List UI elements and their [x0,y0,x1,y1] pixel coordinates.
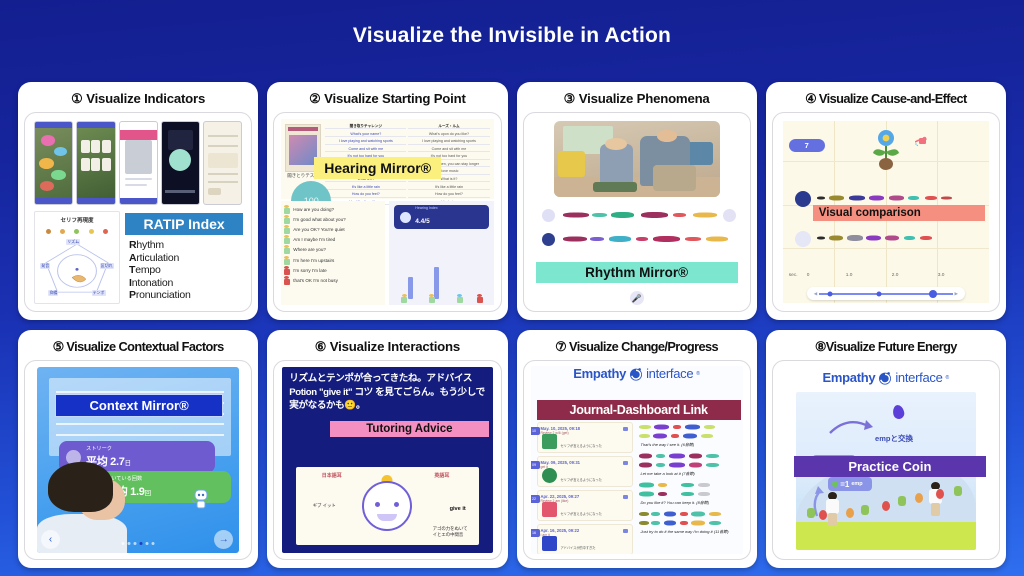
avatar-icon [400,212,411,223]
hearing-index-panel: Hearing Index 4.4/5 [394,205,488,229]
panel-label-english-ear: 英語耳 [434,472,449,479]
card-visualize-interactions[interactable]: ⑥ Visualize Interactions リズムとテンポが合ってきたね。… [267,330,507,568]
entry-tag: 09 [531,461,540,469]
card-title: ⑧Visualize Future Energy [815,339,957,355]
axis-tick: 1.0 [846,273,853,278]
phrase-caption: Let me take a look at it (7音節) [641,471,695,477]
person-figure-right [928,482,944,518]
timeline-chart: 7 [783,121,989,303]
waveform-row [560,210,722,219]
phrase-caption: Just try to do it the same way I'm doing… [641,529,729,535]
card-title: ⑦ Visualize Change/Progress [555,339,718,355]
ratip-item: Pronunciation [129,289,245,302]
card-grid: ① Visualize Indicators [18,82,1006,568]
axis-tick: 3.0 [938,273,945,278]
card-body: Context Mirror® ストリーク 平均 2.7日 聞いている回数 平均… [24,360,252,560]
card-body: セリフ再現度 リズム 発音 [24,112,252,312]
list-item: I'm good what about you? [283,214,383,224]
panel-note: アゴの力をぬいて イとエの中間音 [433,526,468,537]
table-header: ルーズ・ルム [408,123,489,129]
card-visualize-indicators[interactable]: ① Visualize Indicators [18,82,258,320]
waveform-row [560,234,730,243]
pronunciation-panel: 日本語耳 英語耳 ギブ イット give it アゴの力をぬいて イとエの中間音 [296,467,478,545]
ratip-item: Tempo [129,264,245,277]
card-title: ⑥ Visualize Interactions [315,339,460,355]
logo-word-interface: interface [895,370,942,385]
hearing-index-value: 4.4/5 [415,218,429,225]
figure-marker [401,294,408,303]
figure-marker [476,294,483,303]
radar-axis-label: 区切れ [100,263,114,269]
next-arrow-button[interactable]: → [214,530,233,549]
entry-thumbnail [542,434,557,449]
watering-can-icon [915,133,929,144]
slider-right-arrow[interactable]: ▶ [953,291,960,297]
hearing-mirror-badge[interactable]: Hearing Mirror® [314,157,441,179]
radar-axis-label: リズム [66,239,80,245]
card-body: Rhythm Mirror® 🎤 [523,112,751,312]
time-axis: sec. 0 1.0 2.0 3.0 [783,273,989,281]
parent-child-photo [554,121,720,197]
panel-right-text: give it [450,506,466,512]
metric-label: ストリーク [86,445,131,452]
dialogue-list: How are you doing? I'm good what about y… [281,201,385,305]
table-row: I love playing and watching sportsI love… [325,138,489,144]
ratip-index-badge[interactable]: RATIP Index [125,213,243,235]
radar-axis-label: 発音 [40,263,50,269]
list-item: that's OK I'm not busy [283,275,383,285]
chip-sprout-value: =1emp [828,477,872,491]
logo-word-empathy: Empathy [823,370,876,385]
avatar [283,256,290,265]
table-header-row: 聞き取りチャレンジ ルーズ・ルム [325,123,489,129]
phone-screenshots [34,121,242,205]
slide-root: Visualize the Invisible in Action ① Visu… [0,0,1024,576]
phone-screen-4 [161,121,200,205]
ratip-item: Articulation [129,252,245,265]
waveform-group: Let me take a look at it (7音節) [637,451,739,477]
plant-icon [898,496,906,506]
entry-note: アドバイスが的中すぎた [561,546,596,550]
prev-arrow-button[interactable]: ‹ [41,530,60,549]
waveform-row [639,480,735,489]
fruit-icons [41,227,113,236]
list-item[interactable]: 22 Apr. 22, 2025, 09:27 Review 2 am (lik… [537,490,633,521]
plant-icon [807,508,815,518]
card-title: ① Visualize Indicators [71,91,205,107]
entry-tag: 16 [531,529,540,537]
empathy-interface-logo: Empathy interface ® [780,370,992,385]
table-header: 聞き取りチャレンジ [325,123,406,129]
card-body: リズムとテンポが合ってきたね。アドバイスPotion "give it" コツ … [273,360,501,560]
ratip-acronym-list: Rhythm Articulation Tempo Intonation Pro… [129,239,245,302]
exchange-label: empと交換 [875,433,913,444]
card-visualize-phenomena[interactable]: ③ Visualize Phenomena [517,82,757,320]
card-visualize-change-progress[interactable]: ⑦ Visualize Change/Progress Empathy inte… [517,330,757,568]
context-mirror-badge[interactable]: Context Mirror® [55,394,223,417]
entry-thumbnail [542,468,557,483]
list-item: Am I maybe I'm tired [283,235,383,245]
avatar [283,215,290,224]
person-figure-left [825,492,841,528]
plant-icon [915,493,923,503]
lower-panels: How are you doing? I'm good what about y… [281,201,493,305]
dashboard-columns: 10 May. 10, 2025, 09:18 Review 2 w/6 (ge… [537,422,739,550]
phone-screen-2 [76,121,115,205]
waveform-group: Just try to do it the same way I'm doing… [637,509,739,535]
plant-icon [861,505,869,515]
phone-screen-5 [203,121,242,205]
counter-badge: 7 [789,139,825,152]
list-item: Where are you? [283,245,383,255]
waveform-row [639,451,735,460]
waveform-row [817,233,941,242]
plant-icon [954,486,962,496]
entry-thumbnail [542,536,557,551]
card-body: 聞きとりテスト 100 % 聞き取りチャレンジ ルーズ・ルム What's yo… [273,112,501,312]
waveform-row [639,422,735,431]
radar-axis-label: 抑揚 [48,290,58,296]
practice-coin-badge[interactable]: Practice Coin [794,456,986,477]
parent-avatar-icon [795,191,811,207]
entry-note: セリフが言えるようになった [561,478,602,482]
interaction-screen: リズムとテンポが合ってきたね。アドバイスPotion "give it" コツ … [282,367,492,553]
axis-tick: 0 [807,273,810,278]
figure-marker [428,294,435,303]
waveform-row [639,489,735,498]
waveform-row [817,193,955,202]
hearing-index-label: Hearing Index [415,206,437,210]
axis-tick: 2.0 [892,273,899,278]
plant-icon [882,501,890,511]
card-title: ⑤ Visualize Contextual Factors [53,339,224,355]
bar [408,277,413,299]
parent-avatar-icon [542,233,555,246]
bar-chart [395,267,487,303]
logo-word-empathy: Empathy [573,366,626,381]
table-row: What's your name?What's upon do you like… [325,131,489,137]
axis-label: sec. [789,273,798,278]
avatar [283,225,290,234]
waveform-group: That's the way I see it. (6音節) [637,422,739,448]
microphone-icon[interactable]: 🎤 [630,291,644,305]
comment-icon [623,427,628,431]
comment-icon [623,529,628,533]
spiral-icon [629,367,643,381]
card-title: ④ Visualize Cause-and-Effect [805,91,967,107]
avatar [283,235,290,244]
phrase-caption: Do you like it? You can keep it. (8音節) [641,500,710,506]
pentagon-graph: リズム 発音 区切れ 抑揚 テンポ [43,240,111,297]
entry-thumbnail [542,502,557,517]
slider-knob-active [929,290,937,298]
avatar [283,205,290,214]
child-avatar-icon [542,209,555,222]
table-row: Come and sit with meCome and sit with me [325,146,489,152]
entry-tag: 22 [531,495,540,503]
face-diagram [362,481,412,531]
slider-track[interactable] [819,293,952,295]
entry-note: セリフが言えるようになった [561,444,602,448]
tutoring-advice-badge[interactable]: Tutoring Advice [330,421,488,437]
sprout-icon [832,481,838,487]
slider-left-arrow[interactable]: ◀ [812,291,819,297]
metric-unit: 回 [145,490,151,497]
logo-word-interface: interface [646,366,693,381]
list-item: How are you doing? [283,204,383,214]
spiral-icon [878,371,892,385]
phone-screen-3 [119,121,158,205]
list-item: I'm here I'm upstairs [283,255,383,265]
page-title: Visualize the Invisible in Action [0,24,1024,48]
avatar [283,276,290,285]
table-row: How do you feel?How do you feel? [325,191,489,197]
mascot-robot-icon [191,486,211,512]
card-visualize-starting-point[interactable]: ② Visualize Starting Point 聞きとりテスト 100 %… [267,82,507,320]
panel-left-text: ギブ イット [313,503,336,509]
flower-plant-icon [865,129,907,173]
radar-caption: セリフ再現度 [35,216,119,224]
card-visualize-contextual-factors[interactable]: ⑤ Visualize Contextual Factors Context M… [18,330,258,568]
phrase-caption: That's the way I see it. (6音節) [641,442,695,448]
waveform-row [639,431,735,440]
table-row: It's like a little rainIt's like a littl… [325,184,489,190]
phone-screen-1 [34,121,73,205]
curved-arrow-icon [828,417,876,437]
tutor-message: リズムとテンポが合ってきたね。アドバイスPotion "give it" コツ … [289,372,485,413]
card-visualize-future-energy[interactable]: ⑧Visualize Future Energy Empathy interfa… [766,330,1006,568]
registered-mark: ® [946,375,950,381]
card-title: ③ Visualize Phenomena [564,91,710,107]
rhythm-mirror-badge[interactable]: Rhythm Mirror® [536,262,738,283]
empathy-interface-logo: Empathy interface ® [531,366,743,381]
ratip-item: Rhythm [129,239,245,252]
entry-tag: 10 [531,427,540,435]
dashboard-screen: Empathy interface ® Journal-Dashboard Li… [531,366,743,554]
list-item[interactable]: 09 May. 09, 2025, 09:31 get it セリフが言えるよう… [537,456,633,487]
playback-slider[interactable]: ◀ ▶ [807,287,965,300]
slider-knob [827,291,832,296]
radar-axis-label: テンポ [92,290,106,296]
waveform-row [639,518,735,527]
waveform-column: That's the way I see it. (6音節) [637,422,739,550]
energy-drop-icon [892,404,906,420]
figure-marker [456,294,463,303]
list-item: Are you OK? You're quiet [283,224,383,234]
future-energy-screen: Empathy interface ® [780,366,992,554]
carousel-controls: ‹ → [37,531,239,549]
list-item[interactable]: 16 Apr. 16, 2025, 09:22 I am it アドバイスが的中… [537,524,633,554]
card-visualize-cause-and-effect[interactable]: ④ Visualize Cause-and-Effect 7 [766,82,1006,320]
mute-icon[interactable] [723,209,736,222]
journal-entry-list: 10 May. 10, 2025, 09:18 Review 2 w/6 (ge… [537,422,633,550]
ratip-item: Intonation [129,277,245,290]
child-avatar-icon [795,231,811,247]
card-body: Empathy interface ® [772,360,1000,560]
list-item: I'm sorry I'm late [283,265,383,275]
entry-note: セリフが言えるようになった [561,512,602,516]
panel-label-japanese-ear: 日本語耳 [322,472,342,479]
radar-chart: セリフ再現度 リズム 発音 [34,211,120,304]
slider-knob [877,291,882,296]
waveform-group: Do you like it? You can keep it. (8音節) [637,480,739,506]
registered-mark: ® [696,371,700,377]
list-item[interactable]: 10 May. 10, 2025, 09:18 Review 2 w/6 (ge… [537,422,633,453]
avatar [283,266,290,275]
carousel-dots[interactable] [122,542,155,545]
comment-icon [623,495,628,499]
avatar [283,245,290,254]
card-title: ② Visualize Starting Point [309,91,466,107]
waveform-row [639,509,735,518]
waveform-row [639,460,735,469]
comment-icon [623,461,628,465]
card-body: Empathy interface ® Journal-Dashboard Li… [523,360,751,560]
hearing-index-chart: Hearing Index 4.4/5 [389,201,493,305]
card-body: 7 [772,112,1000,312]
visual-comparison-badge[interactable]: Visual comparison [813,205,985,221]
context-screen: Context Mirror® ストリーク 平均 2.7日 聞いている回数 平均… [37,367,239,553]
journal-dashboard-link-badge[interactable]: Journal-Dashboard Link [537,400,741,420]
